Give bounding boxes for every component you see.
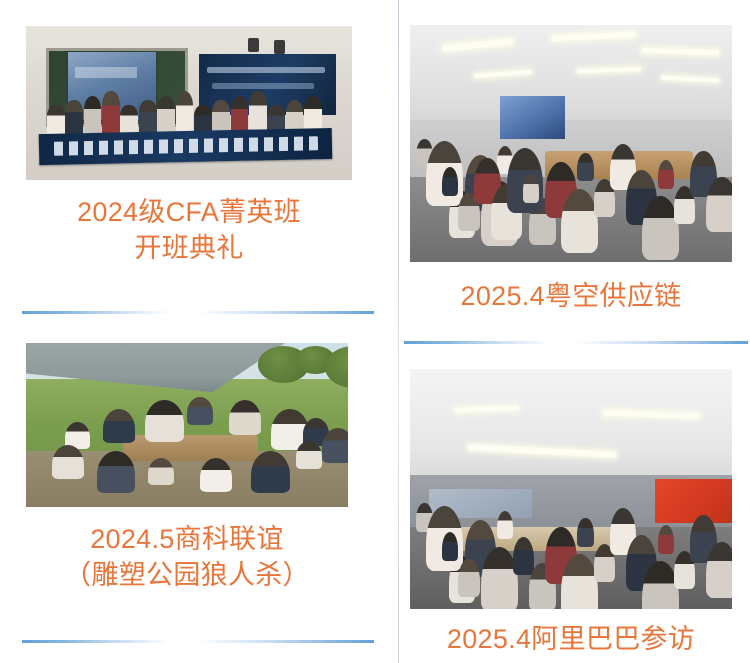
caption-shangke: 2024.5商科联谊 （雕塑公园狼人杀） [26,521,348,593]
photo-card-alibaba[interactable]: 2025.4阿里巴巴参访 [410,369,732,657]
photo-cfa-ceremony [26,26,352,180]
photo-card-shangke[interactable]: 2024.5商科联谊 （雕塑公园狼人杀） [26,343,348,593]
caption-alibaba: 2025.4阿里巴巴参访 [410,621,732,657]
photo-alibaba-visit [410,369,732,609]
photo-grid-board: 2024级CFA菁英班 开班典礼 2025.4粤空供应链 2024. [0,0,750,663]
caption-yuekong: 2025.4粤空供应链 [410,278,732,314]
caption-cfa: 2024级CFA菁英班 开班典礼 [26,194,352,266]
photo-card-cfa[interactable]: 2024级CFA菁英班 开班典礼 [26,26,352,266]
photo-card-yuekong[interactable]: 2025.4粤空供应链 [410,25,732,314]
banner-graphic [39,128,333,165]
photo-shangke-picnic [26,343,348,507]
divider-right-middle [404,341,748,344]
divider-left-top [22,311,374,314]
photo-yuekong-meeting [410,25,732,262]
divider-left-bottom [22,640,374,643]
column-divider [398,0,399,663]
